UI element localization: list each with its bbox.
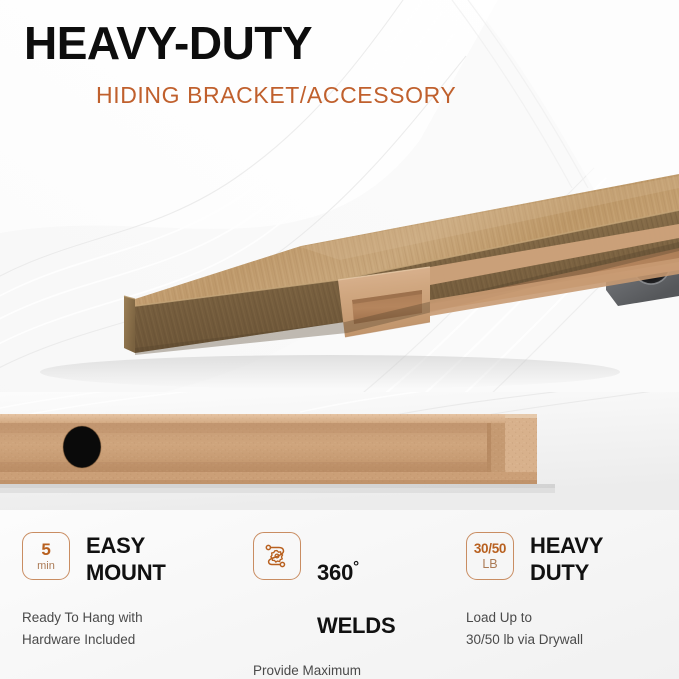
channel-cutaway-photo — [0, 392, 679, 510]
shelf-bracket-illustration — [0, 110, 679, 392]
feature-title: EASY MOUNT — [86, 532, 166, 587]
feature-title-second: WELDS — [317, 613, 395, 638]
feature-description: Ready To Hang with Hardware Included — [22, 607, 166, 651]
feature-easy-mount: 5 min EASY MOUNT Ready To Hang with Hard… — [22, 532, 166, 650]
feature-heading: 5 min EASY MOUNT — [22, 532, 166, 587]
feature-360-welds: 360° WELDS Provide Maximum Durability — [253, 532, 395, 679]
mdf-channel-body — [0, 414, 537, 484]
badge-value: 30/50 — [474, 542, 506, 556]
header: HEAVY-DUTY HIDING BRACKET/ACCESSORY — [0, 0, 679, 132]
feature-title: HEAVY DUTY — [530, 532, 603, 587]
feature-description: Load Up to 30/50 lb via Drywall — [466, 607, 603, 651]
hero-product-photo — [0, 110, 679, 392]
weld-path-glyph — [261, 540, 293, 572]
load-capacity-badge-icon: 30/50 LB — [466, 532, 514, 580]
feature-heavy-duty: 30/50 LB HEAVY DUTY Load Up to 30/50 lb … — [466, 532, 603, 650]
feature-title-main: 360 — [317, 560, 353, 585]
infographic-canvas: HEAVY-DUTY HIDING BRACKET/ACCESSORY — [0, 0, 679, 679]
channel-cutaway-illustration — [0, 392, 679, 510]
badge-unit: min — [37, 561, 55, 572]
page-subtitle: HIDING BRACKET/ACCESSORY — [96, 84, 456, 107]
feature-heading: 30/50 LB HEAVY DUTY — [466, 532, 603, 587]
stopwatch-badge-icon: 5 min — [22, 532, 70, 580]
feature-heading: 360° WELDS — [253, 532, 395, 640]
badge-unit: LB — [482, 558, 497, 571]
degree-symbol: ° — [353, 559, 359, 576]
badge-value: 5 — [41, 541, 50, 558]
feature-row: 5 min EASY MOUNT Ready To Hang with Hard… — [0, 510, 679, 679]
page-title: HEAVY-DUTY — [24, 20, 312, 66]
feature-title: 360° WELDS — [317, 532, 395, 640]
feature-description: Provide Maximum Durability — [253, 660, 395, 679]
weld-path-icon — [253, 532, 301, 580]
